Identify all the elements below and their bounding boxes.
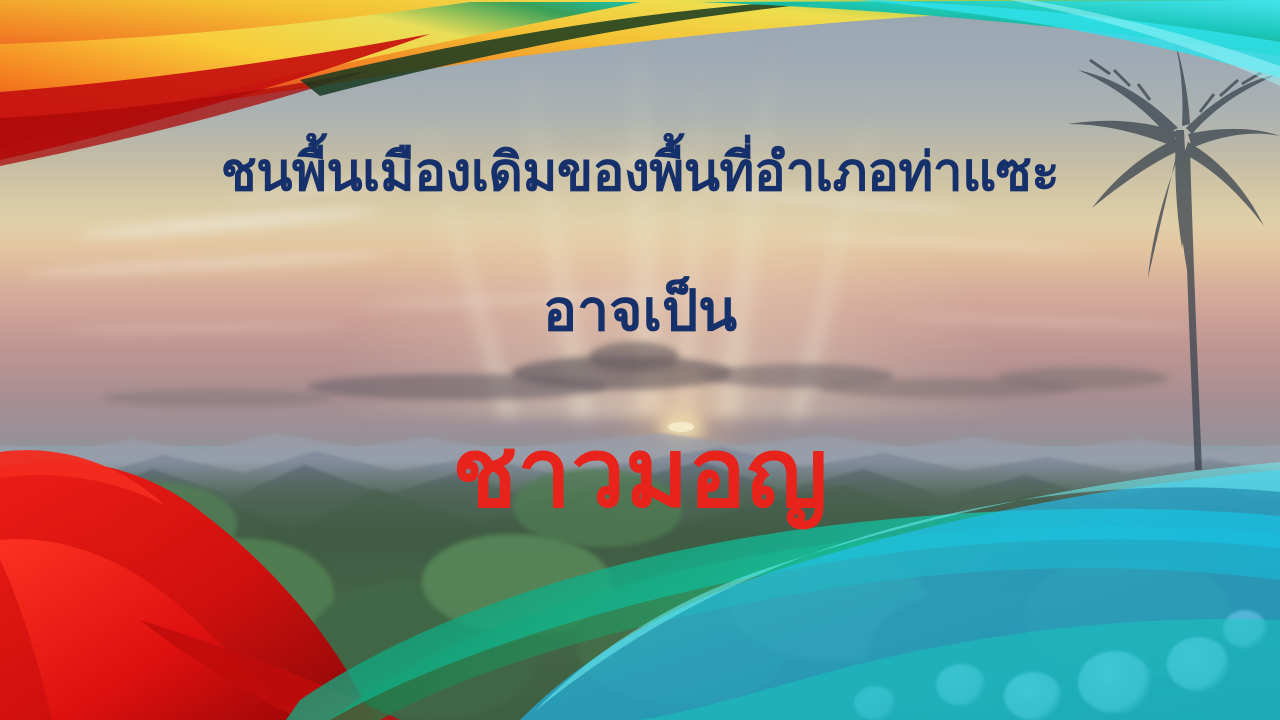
headline-text-layer: ชนพื้นเมืองเดิมของพื้นที่อำเภอท่าแซะ อาจ… xyxy=(0,0,1280,720)
headline-line-2: อาจเป็น xyxy=(0,283,1280,340)
headline-line-3: ชาวมอญ xyxy=(0,425,1280,521)
headline-line-1: ชนพื้นเมืองเดิมของพื้นที่อำเภอท่าแซะ xyxy=(0,146,1280,199)
presentation-slide: ชนพื้นเมืองเดิมของพื้นที่อำเภอท่าแซะ อาจ… xyxy=(0,0,1280,720)
